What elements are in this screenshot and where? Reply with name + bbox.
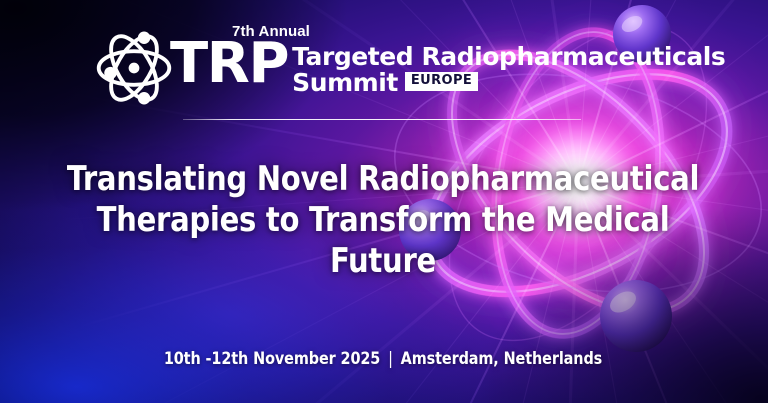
event-date-location: 10th -12th November 2025 | Amsterdam, Ne…	[48, 349, 717, 368]
region-badge: EUROPE	[405, 72, 478, 91]
logo-acronym: TRP	[170, 37, 288, 91]
event-dates: 10th -12th November 2025	[164, 349, 380, 368]
headline-line-2: Therapies to Transform the Medical	[50, 199, 716, 240]
event-banner: 7th Annual TRP Targeted Radiopharmaceuti…	[0, 0, 768, 403]
logo-wordmark: 7th Annual TRP Targeted Radiopharmaceuti…	[170, 22, 725, 96]
logo-full-name-line1: Targeted Radiopharmaceuticals	[292, 44, 725, 70]
header-divider	[183, 119, 581, 120]
headline-line-1: Translating Novel Radiopharmaceutical	[50, 158, 716, 199]
event-headline: Translating Novel Radiopharmaceutical Th…	[50, 158, 716, 281]
event-location: Amsterdam, Netherlands	[401, 349, 602, 368]
date-location-separator: |	[385, 349, 396, 368]
trp-summit-logo[interactable]: 7th Annual TRP Targeted Radiopharmaceuti…	[92, 22, 725, 108]
headline-line-3: Future	[50, 240, 716, 281]
logo-full-name-line2: Summit	[292, 69, 398, 96]
atom-icon	[92, 26, 176, 110]
